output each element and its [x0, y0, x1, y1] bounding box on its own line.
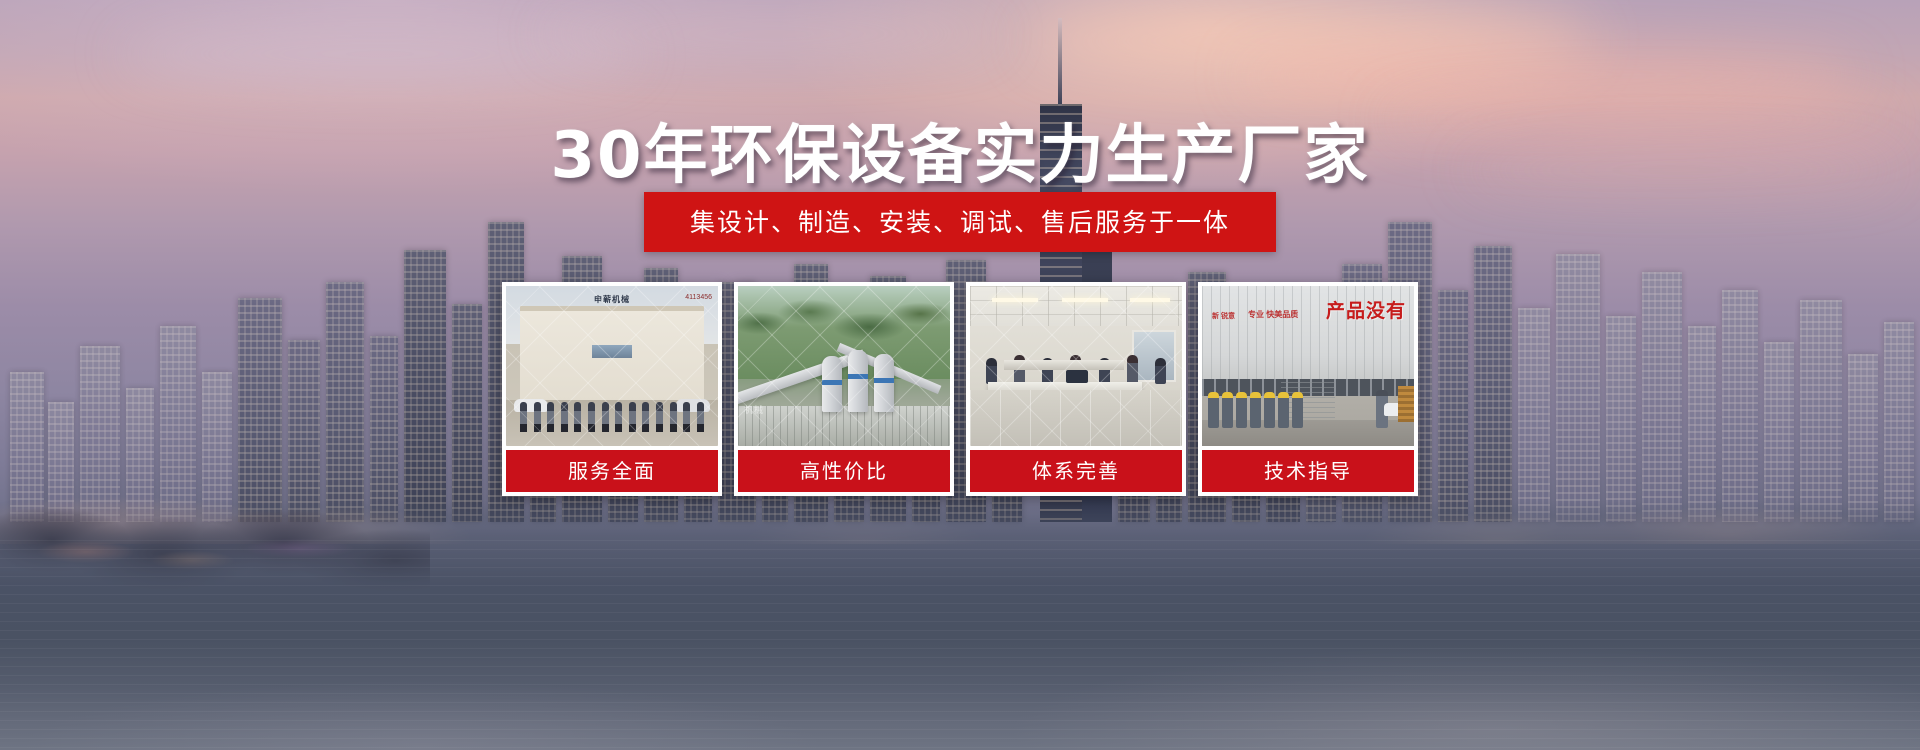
company-building-photo: 申蕲机械 4113456 [506, 286, 718, 446]
feature-card-label: 高性价比 [738, 450, 950, 492]
hero-banner: 30年环保设备实力生产厂家 集设计、制造、安装、调试、售后服务于一体 申蕲机械 … [0, 0, 1920, 750]
wall-slogan-text: 产品没有 [1326, 296, 1406, 323]
subtitle-row: 集设计、制造、安装、调试、售后服务于一体 [0, 192, 1920, 252]
building-phone-text: 4113456 [685, 294, 712, 301]
feature-card[interactable]: 申蕲机械 4113456 服务全面 [502, 282, 722, 496]
feature-card-label: 服务全面 [506, 450, 718, 492]
feature-card-label: 体系完善 [970, 450, 1182, 492]
factory-workshop-photo: 产品没有 新 锐意 专业 快美品质 [1202, 286, 1414, 446]
aerial-plant-photo: 机械 [738, 286, 950, 446]
water-ripples [0, 540, 1920, 750]
building-sign-text: 申蕲机械 [594, 294, 630, 305]
wall-small-text-left: 新 锐意 [1212, 312, 1235, 321]
subtitle-banner: 集设计、制造、安装、调试、售后服务于一体 [644, 192, 1276, 252]
feature-card-label: 技术指导 [1202, 450, 1414, 492]
feature-card[interactable]: 产品没有 新 锐意 专业 快美品质 技术指导 [1198, 282, 1418, 496]
feature-card-list: 申蕲机械 4113456 服务全面 机械 高性价比 [0, 282, 1920, 496]
feature-card[interactable]: 机械 高性价比 [734, 282, 954, 496]
feature-card[interactable]: 体系完善 [966, 282, 1186, 496]
office-interior-photo [970, 286, 1182, 446]
page-title: 30年环保设备实力生产厂家 [0, 104, 1920, 196]
photo-watermark: 机械 [744, 403, 764, 416]
wall-small-text-mid: 专业 快美品质 [1248, 310, 1298, 320]
